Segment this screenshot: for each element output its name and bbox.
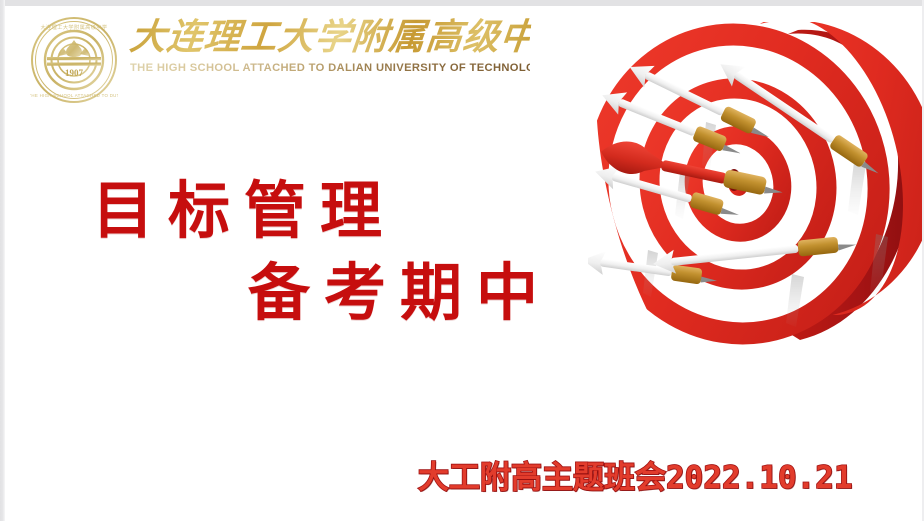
title-line-1: 目标管理	[88, 172, 608, 254]
slide-title: 目标管理 备考期中	[88, 172, 608, 336]
title-line-2: 备考期中	[88, 254, 608, 336]
svg-text:THE HIGH SCHOOL ATTACHED TO DU: THE HIGH SCHOOL ATTACHED TO DUT	[30, 93, 118, 98]
school-name-block: 大连理工大学附属高级中学 THE HIGH SCHOOL ATTACHED TO…	[130, 18, 530, 74]
school-branding-header: 1907 大连理工大学附属高级中学 THE HIGH SCHOOL ATTACH…	[22, 12, 542, 104]
svg-text:大连理工大学附属高级中学: 大连理工大学附属高级中学	[40, 23, 107, 31]
dartboard-illustration	[588, 22, 924, 352]
presentation-slide: 1907 大连理工大学附属高级中学 THE HIGH SCHOOL ATTACH…	[0, 0, 924, 521]
school-seal-emblem-icon: 1907 大连理工大学附属高级中学 THE HIGH SCHOOL ATTACH…	[30, 16, 118, 104]
window-top-edge	[0, 0, 924, 6]
slide-footer: 大工附高主题班会2022.10.21	[418, 456, 838, 500]
emblem-year: 1907	[65, 68, 84, 78]
footer-event-label: 大工附高主题班会2022.10.21	[418, 456, 838, 500]
window-left-edge	[0, 0, 5, 521]
school-name-chinese: 大连理工大学附属高级中学	[128, 18, 532, 57]
school-name-english: THE HIGH SCHOOL ATTACHED TO DALIAN UNIVE…	[130, 62, 530, 74]
